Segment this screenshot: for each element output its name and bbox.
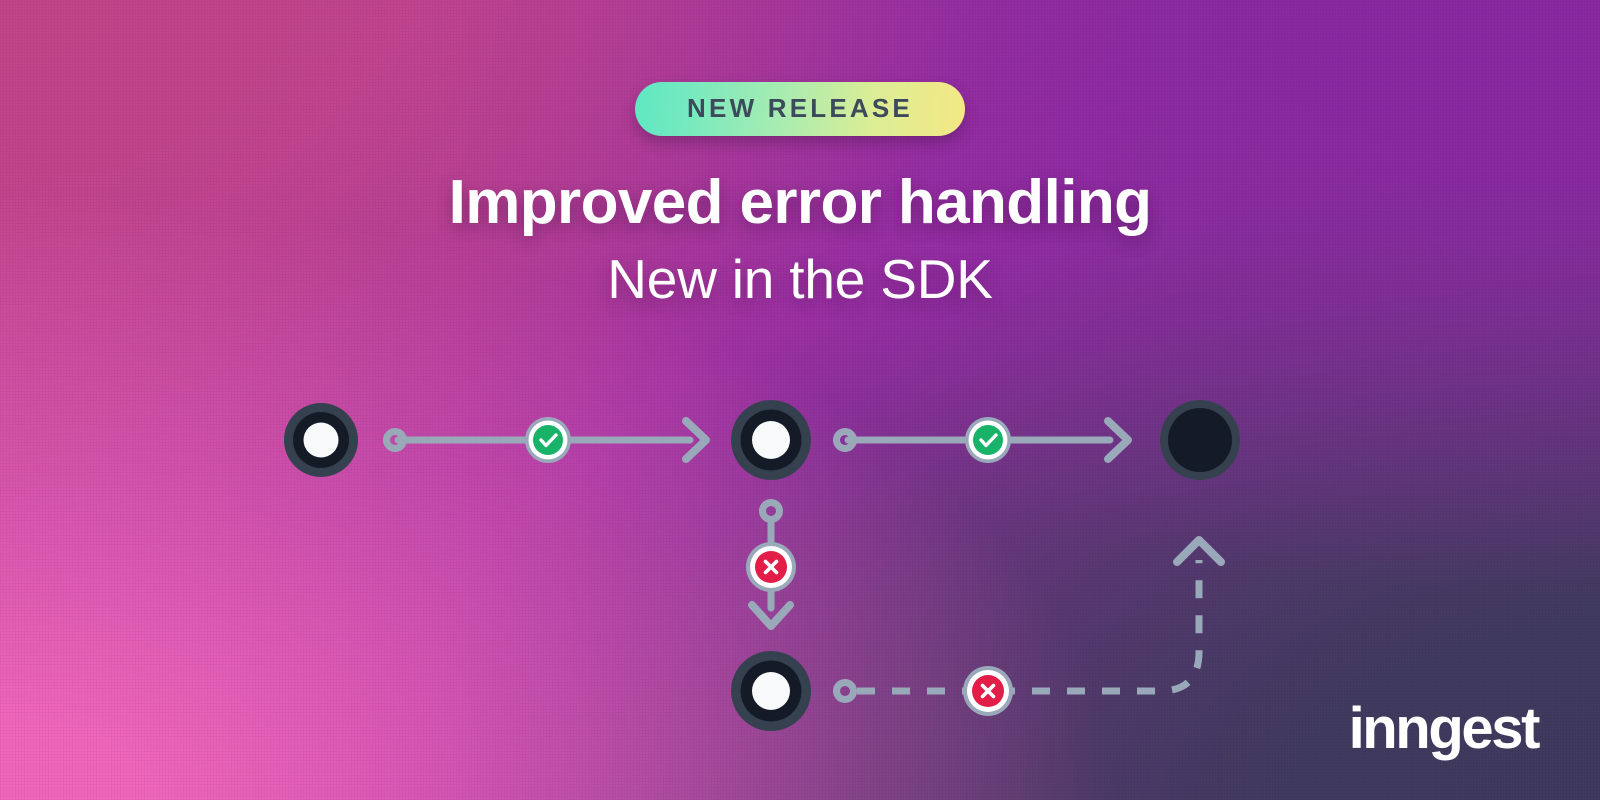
status-badge-success-1[interactable] <box>525 417 571 463</box>
status-badge-error-1[interactable] <box>746 542 796 592</box>
inngest-logo: inngest <box>1349 700 1538 758</box>
edge-retry-to-3 <box>837 540 1222 700</box>
arrowhead-up-1 <box>1177 540 1221 562</box>
workflow-diagram <box>0 0 1600 800</box>
step-node-retry[interactable] <box>731 651 811 731</box>
step-node-3[interactable] <box>1160 400 1240 480</box>
step-node-1[interactable] <box>284 403 358 477</box>
workflow-diagram-svg <box>0 0 1600 800</box>
status-badge-success-2[interactable] <box>965 417 1011 463</box>
status-badge-error-2[interactable] <box>963 666 1013 716</box>
step-node-2[interactable] <box>731 400 811 480</box>
